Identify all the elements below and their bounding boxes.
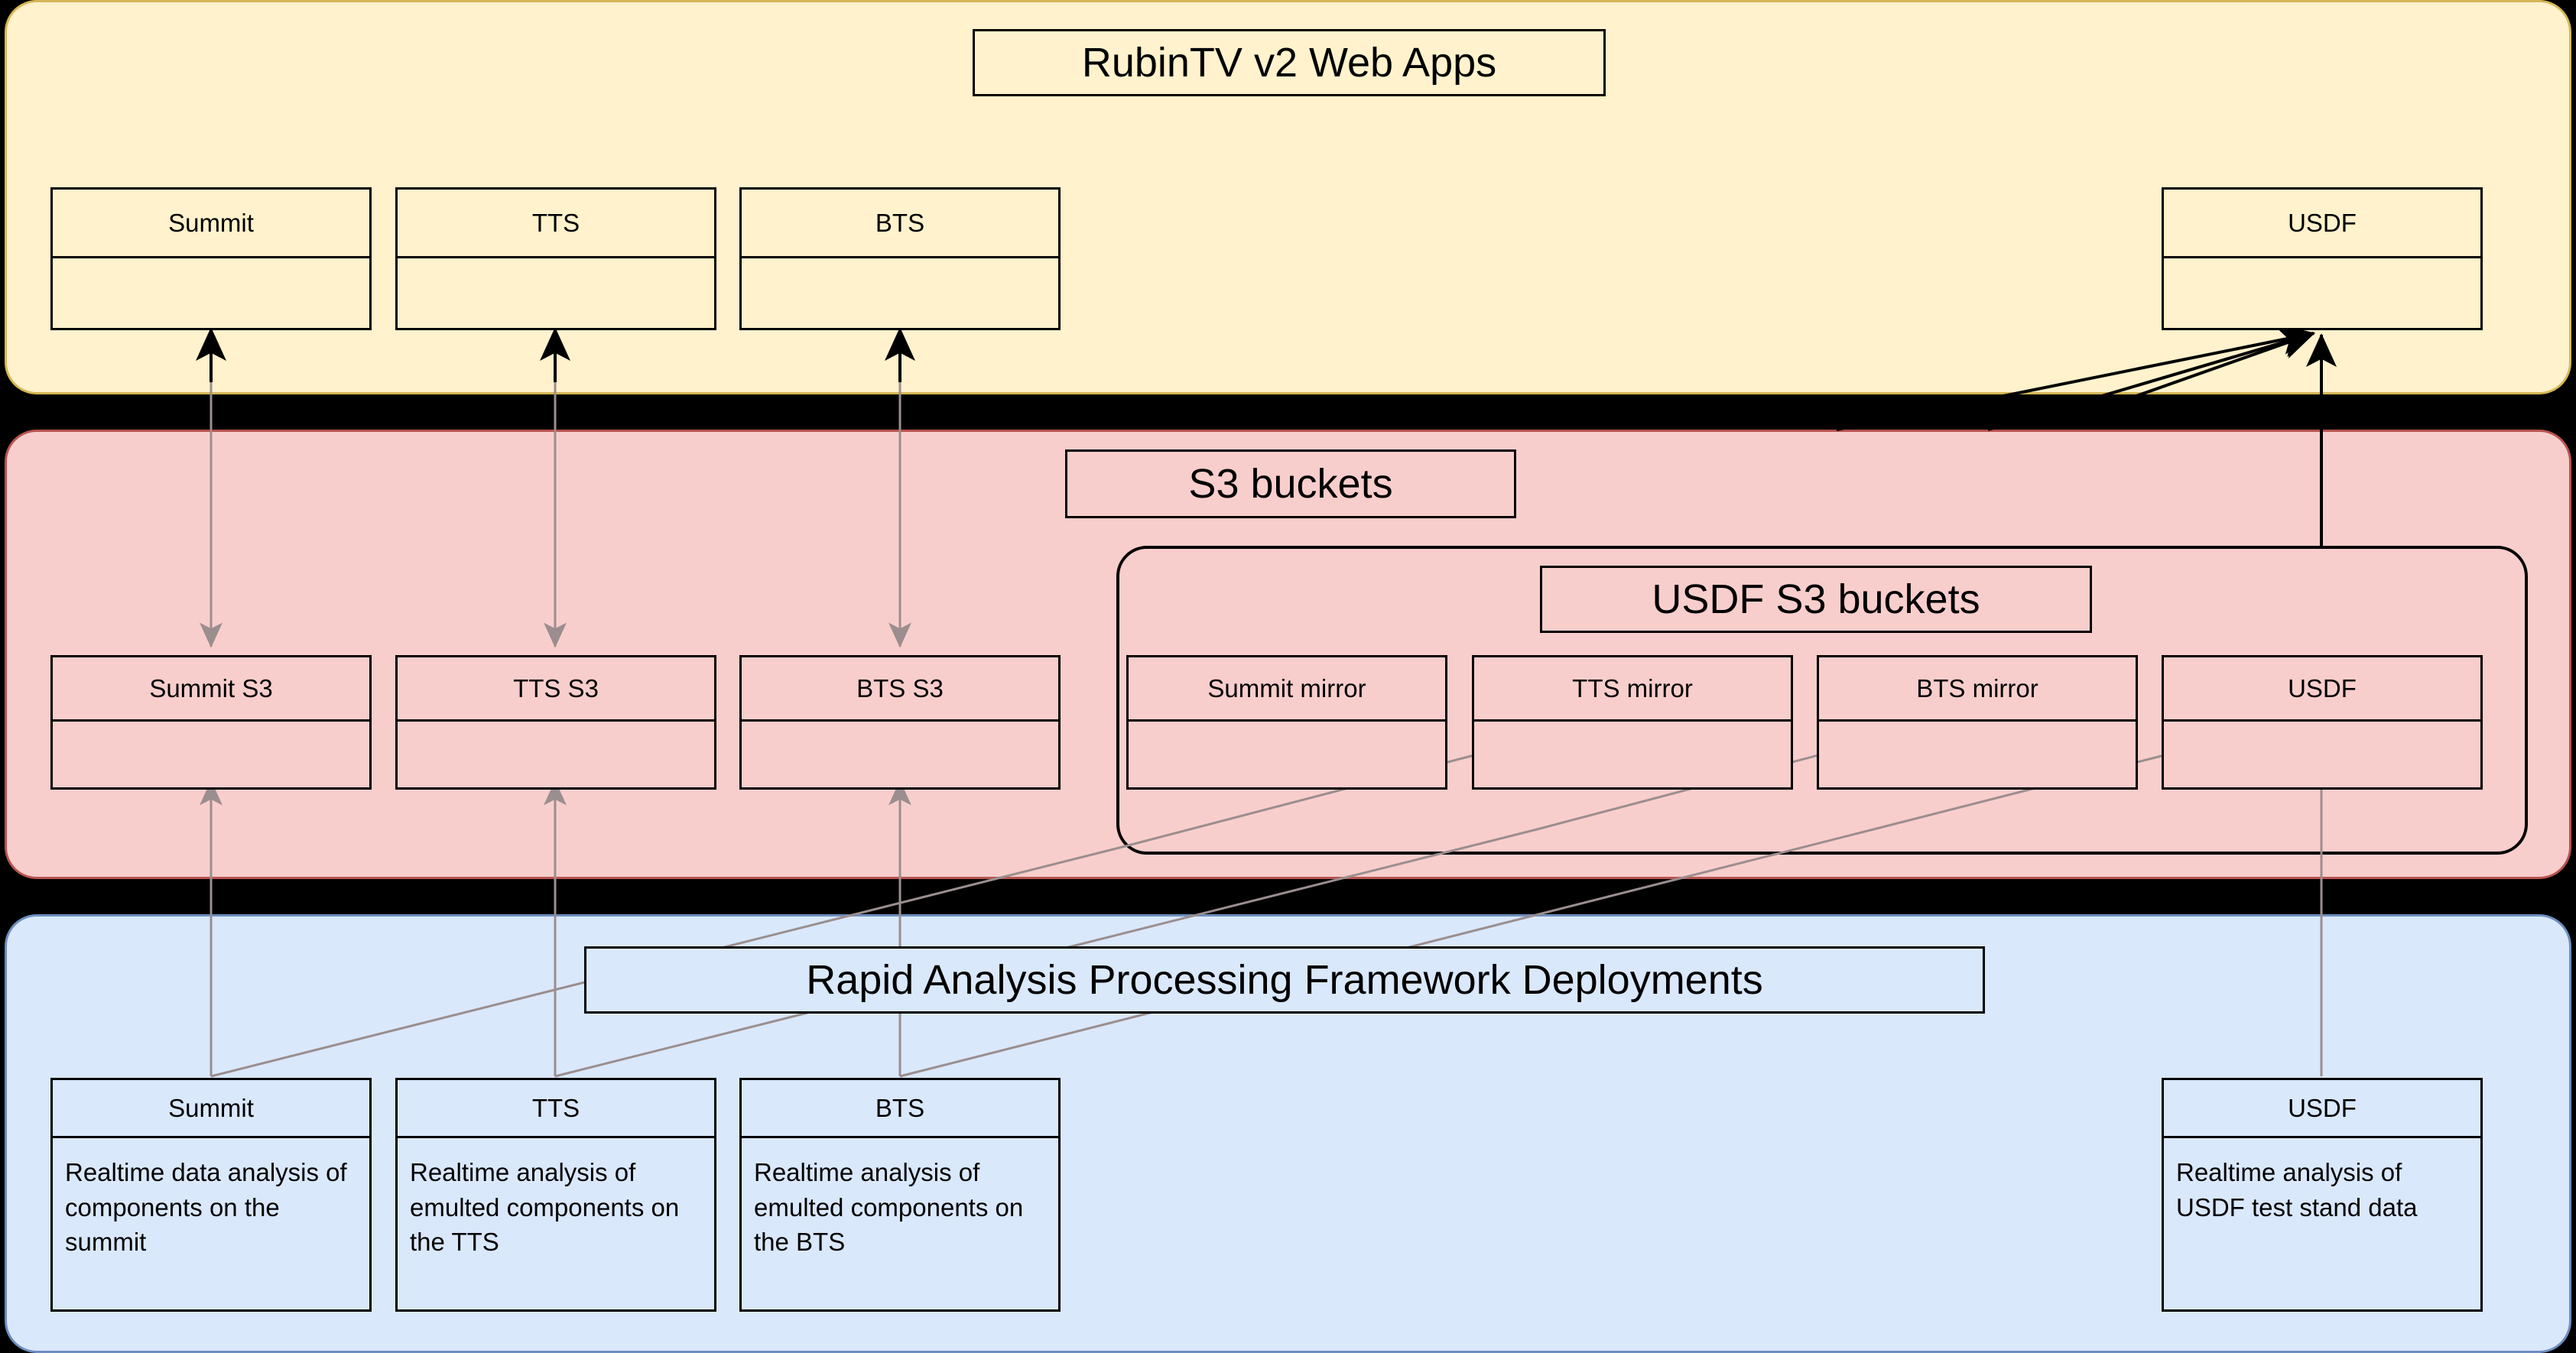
node-header: TTS mirror [1474, 657, 1791, 722]
rapf-node-summit[interactable]: Summit Realtime data analysis of compone… [50, 1078, 372, 1312]
node-header: Summit mirror [1129, 657, 1445, 722]
diagram-canvas: RubinTV v2 Web Apps S3 buckets USDF S3 b… [0, 0, 2576, 1353]
node-header: TTS [398, 1080, 714, 1138]
node-body [1819, 722, 2136, 787]
s3-node-summit-s3[interactable]: Summit S3 [50, 655, 372, 790]
lane-title-text: Rapid Analysis Processing Framework Depl… [806, 959, 1763, 1002]
node-body [2164, 722, 2480, 787]
node-header: TTS [398, 190, 714, 258]
node-header: USDF [2164, 657, 2480, 722]
webapp-node-summit[interactable]: Summit [50, 187, 372, 330]
rapf-node-usdf[interactable]: USDF Realtime analysis of USDF test stan… [2162, 1078, 2483, 1312]
lane-title-text: S3 buckets [1188, 462, 1392, 506]
node-header: Summit [53, 190, 369, 258]
node-header: BTS S3 [742, 657, 1058, 722]
node-body [53, 722, 369, 787]
node-body [398, 722, 714, 787]
node-header: Summit [53, 1080, 369, 1138]
node-body: Realtime analysis of emulted components … [742, 1138, 1058, 1309]
node-body: Realtime analysis of emulted components … [398, 1138, 714, 1309]
node-header: Summit S3 [53, 657, 369, 722]
node-header: USDF [2164, 1080, 2480, 1138]
s3-node-summit-mirror[interactable]: Summit mirror [1126, 655, 1447, 790]
webapp-node-bts[interactable]: BTS [739, 187, 1061, 330]
node-header: BTS mirror [1819, 657, 2136, 722]
lane-title-text: RubinTV v2 Web Apps [1082, 41, 1496, 85]
s3-node-tts-mirror[interactable]: TTS mirror [1472, 655, 1793, 790]
group-title-text: USDF S3 buckets [1652, 578, 1980, 621]
node-body [1129, 722, 1445, 787]
node-body [53, 258, 369, 328]
node-header: BTS [742, 1080, 1058, 1138]
s3-node-bts-mirror[interactable]: BTS mirror [1817, 655, 2138, 790]
s3-node-tts-s3[interactable]: TTS S3 [395, 655, 716, 790]
s3-node-usdf[interactable]: USDF [2162, 655, 2483, 790]
node-body: Realtime analysis of USDF test stand dat… [2164, 1138, 2480, 1309]
group-title-usdf-s3-buckets: USDF S3 buckets [1540, 566, 2092, 633]
lane-title-rubintv-web-apps: RubinTV v2 Web Apps [973, 29, 1606, 96]
webapp-node-usdf[interactable]: USDF [2162, 187, 2483, 330]
node-header: USDF [2164, 190, 2480, 258]
node-body [1474, 722, 1791, 787]
rapf-node-bts[interactable]: BTS Realtime analysis of emulted compone… [739, 1078, 1061, 1312]
node-body [742, 722, 1058, 787]
node-body [2164, 258, 2480, 328]
node-body [742, 258, 1058, 328]
node-body [398, 258, 714, 328]
node-body: Realtime data analysis of components on … [53, 1138, 369, 1309]
rapf-node-tts[interactable]: TTS Realtime analysis of emulted compone… [395, 1078, 716, 1312]
s3-node-bts-s3[interactable]: BTS S3 [739, 655, 1061, 790]
node-header: BTS [742, 190, 1058, 258]
lane-title-s3-buckets: S3 buckets [1065, 449, 1516, 518]
lane-title-rapf-deployments: Rapid Analysis Processing Framework Depl… [584, 946, 1985, 1014]
node-header: TTS S3 [398, 657, 714, 722]
webapp-node-tts[interactable]: TTS [395, 187, 716, 330]
